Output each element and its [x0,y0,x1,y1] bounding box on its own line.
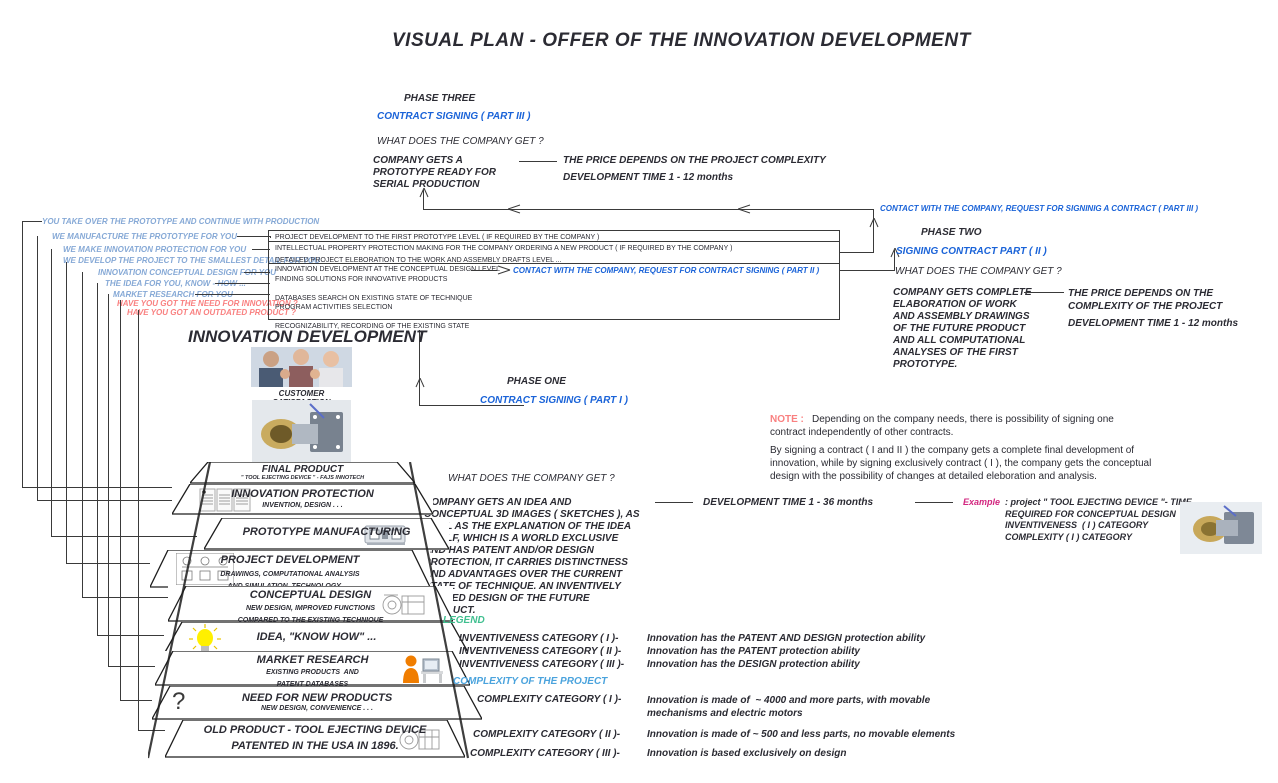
note-para2: By signing a contract ( I and II ) the c… [770,444,1151,483]
left-dash-1 [237,236,270,237]
pyramid-right-edge [300,462,480,762]
legend-inventiveness-desc-1: Innovation has the PATENT protection abi… [647,646,860,657]
legend-complexity-desc-1: Innovation is made of ~ 500 and less par… [647,729,955,740]
legend-inventiveness-cat-1: INVENTIVENESS CATEGORY ( II )- [459,646,621,657]
legend-inventiveness-cat-2: INVENTIVENESS CATEGORY ( III )- [459,659,624,670]
phase-three-heading: PHASE THREE [404,93,475,104]
up-arrowhead-right [868,218,880,230]
pyramid-main-title: INNOVATION DEVELOPMENT [188,327,426,347]
bracket-v-5 [97,283,98,635]
phase-two-contract: SIGNING CONTRACT PART ( II ) [896,246,1047,257]
phase-three-question: WHAT DOES THE COMPANY GET ? [377,136,544,147]
left-dash-6 [195,294,270,295]
page-title: VISUAL PLAN - OFFER OF THE INNOVATION DE… [392,30,971,52]
phase-one-contract: CONTRACT SIGNING ( PART I ) [480,395,628,406]
center-box-row1: PROJECT DEVELOPMENT TO THE FIRST PROTOTY… [275,232,599,244]
top-flow-riser-right [873,209,874,253]
legend-heading: LEGEND [443,615,485,626]
center-box-right-tail [840,270,850,271]
up-arrowhead-left [418,188,430,200]
bracket-v-4 [82,272,83,597]
phase-three-price: THE PRICE DEPENDS ON THE PROJECT COMPLEX… [563,155,826,166]
note-label: NOTE : [770,414,804,425]
legend-inventiveness-desc-2: Innovation has the DESIGN protection abi… [647,659,860,670]
phase-one-time-connector-left [655,502,693,503]
center-box-contact: CONTACT WITH THE COMPANY, REQUEST FOR CO… [513,266,819,275]
bracket-v-6 [108,294,109,666]
phase-two-gets: COMPANY GETS COMPLETE ELABORATION OF WOR… [893,287,1032,371]
legend-complexity-cat-2: COMPLEXITY CATEGORY ( III )- [470,748,620,759]
phase-one-time-connector-right [915,502,953,503]
bracket-v-2 [51,249,52,536]
legend-complexity-desc-2: Innovation is based exclusively on desig… [647,748,847,759]
left-arrowhead-2 [738,204,752,214]
note-line2: contract independently of other contract… [770,427,953,438]
left-dash-0 [22,221,42,222]
bracket-v-7 [120,300,121,700]
top-flow-line [423,209,874,210]
phase-two-heading: PHASE TWO [921,227,982,238]
left-line-0: YOU TAKE OVER THE PROTOTYPE AND CONTINUE… [42,217,319,226]
example-label: Example [963,497,1000,507]
phase-three-contract: CONTRACT SIGNING ( PART III ) [377,111,531,122]
bracket-v-0 [22,221,23,487]
legend-inventiveness-desc-0: Innovation has the PATENT AND DESIGN pro… [647,633,925,644]
legend-complexity-heading: COMPLEXITY OF THE PROJECT [453,676,607,687]
phase-one-heading: PHASE ONE [507,376,566,387]
up-arrowhead-phase-one [414,378,426,390]
bracket-v-3 [66,262,67,563]
phase-two-price: THE PRICE DEPENDS ON THE COMPLEXITY OF T… [1068,287,1222,313]
phase-two-time: DEVELOPMENT TIME 1 - 12 months [1068,318,1238,329]
phase-two-contact: CONTACT WITH THE COMPANY, REQUEST FOR SI… [880,204,1198,213]
left-line-2: WE MAKE INNOVATION PROTECTION FOR YOU [63,245,246,254]
left-dash-4 [244,272,270,273]
customer-satisfaction-photo [251,347,352,387]
center-box-row2: INTELLECTUAL PROPERTY PROTECTION MAKING … [275,243,732,266]
legend-complexity-cat-1: COMPLEXITY CATEGORY ( II )- [473,729,620,740]
left-arrowhead-1 [508,204,522,214]
phase-three-gets: COMPANY GETS A PROTOTYPE READY FOR SERIA… [373,155,496,191]
legend-complexity-desc-0: Innovation is made of ~ 4000 and more pa… [647,694,930,720]
bracket-v-1 [37,236,38,500]
pyramid-left-edge [148,462,278,762]
phase-three-connector [519,161,557,162]
left-line-1: WE MANUFACTURE THE PROTOTYPE FOR YOU [52,232,237,241]
phase-two-question: WHAT DOES THE COMPANY GET ? [895,266,1062,277]
phase-two-price-connector [1024,292,1064,293]
center-box-row3: INNOVATION DEVELOPMENT AT THE CONCEPTUAL… [275,265,500,332]
example-product-photo [1180,502,1262,554]
note-line1: Depending on the company needs, there is… [812,414,1114,425]
phase-one-time: DEVELOPMENT TIME 1 - 36 months [703,497,873,508]
legend-complexity-cat-0: COMPLEXITY CATEGORY ( I )- [477,694,621,705]
final-product-photo [252,400,351,463]
legend-inventiveness-cat-0: INVENTIVENESS CATEGORY ( I )- [459,633,618,644]
phase-two-connector-base [840,252,874,253]
left-dash-5 [215,283,270,284]
phase-three-time: DEVELOPMENT TIME 1 - 12 months [563,172,733,183]
bracket-v-8 [138,310,139,730]
center-box-contact-line [471,270,497,271]
